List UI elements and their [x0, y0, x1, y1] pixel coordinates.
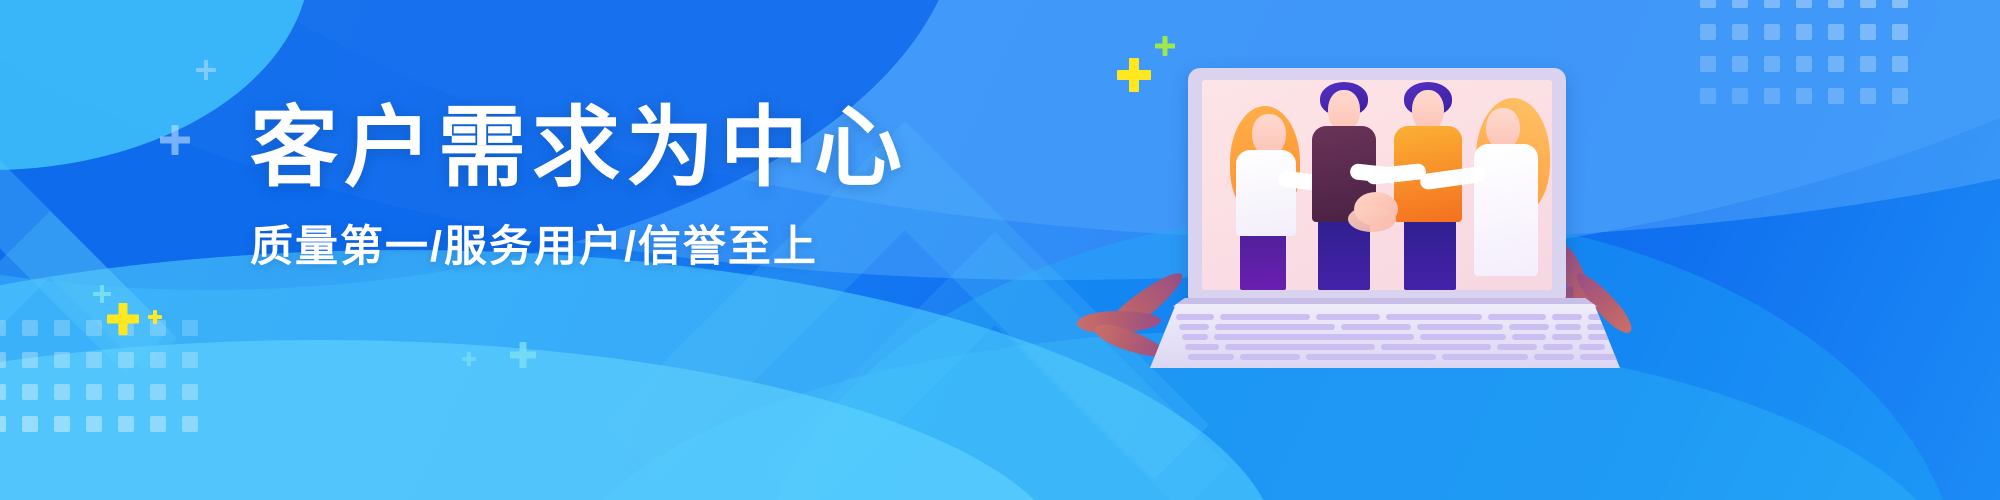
grid-dot [1860, 88, 1876, 104]
grid-dot [1860, 56, 1876, 72]
grid-dot [54, 352, 70, 368]
keyboard-key [1534, 354, 1574, 360]
grid-dot [1700, 24, 1716, 40]
plus-white-small-upper-left-icon [196, 60, 216, 80]
laptop-screen [1202, 80, 1552, 290]
grid-dot [1732, 88, 1748, 104]
person-woman-blonde-right [1460, 94, 1552, 290]
keyboard-key [1188, 354, 1234, 360]
plus-yellow-small-bottom-left-icon [148, 310, 162, 324]
keyboard-key [1225, 344, 1375, 350]
page-title: 客户需求为中心 [250, 104, 890, 192]
keyboard-key [1215, 324, 1335, 330]
grid-dot [1828, 0, 1844, 8]
keyboard-key [1543, 344, 1573, 350]
plus-cyan-bottom-center-icon [510, 342, 536, 368]
keyboard-key [1214, 334, 1414, 340]
laptop-keyboard [1150, 304, 1620, 368]
grid-dot [54, 320, 70, 336]
grid-dot [182, 320, 198, 336]
grid-dot [0, 352, 6, 368]
grid-dot [1892, 24, 1908, 40]
keyboard-key [1185, 344, 1219, 350]
grid-dot [182, 384, 198, 400]
promo-banner: 客户需求为中心 质量第一/服务用户/信誉至上 [0, 0, 2000, 500]
keyboard-key [1488, 314, 1546, 320]
keyboard-key [1240, 354, 1300, 360]
grid-dot [1764, 56, 1780, 72]
page-subtitle: 质量第一/服务用户/信誉至上 [250, 226, 890, 269]
grid-dot [1732, 56, 1748, 72]
grid-dot [150, 416, 166, 432]
grid-dot [0, 384, 6, 400]
grid-dot [1764, 88, 1780, 104]
keyboard-key [1442, 354, 1528, 360]
grid-dot [1796, 24, 1812, 40]
keyboard-key [1552, 314, 1582, 320]
grid-dot [1700, 56, 1716, 72]
plus-yellow-large-bottom-left-icon [107, 303, 139, 335]
grid-dot [118, 352, 134, 368]
grid-dot [118, 416, 134, 432]
grid-dot [0, 416, 6, 432]
keyboard-key [1497, 344, 1537, 350]
plus-cyan-bottom-left-icon [93, 285, 111, 303]
person-man-dark-shirt [1298, 82, 1392, 290]
grid-dot [1860, 0, 1876, 8]
keyboard-key [1588, 334, 1614, 340]
plus-cyan-small-center-icon [462, 352, 476, 366]
laptop-lid [1188, 68, 1566, 300]
grid-dot [86, 416, 102, 432]
grid-dot [1828, 88, 1844, 104]
grid-dot [150, 384, 166, 400]
dot-grid-bottom-left [0, 320, 290, 500]
grid-dot [1892, 0, 1908, 8]
grid-dot [1892, 56, 1908, 72]
grid-dot [22, 320, 38, 336]
keyboard-key [1341, 324, 1411, 330]
grid-dot [182, 352, 198, 368]
grid-dot [1732, 0, 1748, 8]
grid-dot [22, 352, 38, 368]
keyboard-key [1381, 344, 1491, 350]
torso-jacket [1236, 150, 1296, 236]
plus-green-small-near-laptop-icon [1155, 36, 1175, 56]
grid-dot [22, 384, 38, 400]
grid-dot [1892, 88, 1908, 104]
grid-dot [118, 384, 134, 400]
dot-grid-top-right [1700, 0, 2000, 172]
keyboard-key [1176, 314, 1214, 320]
keyboard-key [1220, 314, 1310, 320]
grid-dot [150, 352, 166, 368]
grid-dot [54, 416, 70, 432]
keyboard-key [1386, 314, 1482, 320]
grid-dot [1796, 0, 1812, 8]
grid-dot [1700, 88, 1716, 104]
keyboard-key [1420, 334, 1506, 340]
grid-dot [86, 320, 102, 336]
grid-dot [1828, 56, 1844, 72]
torso-dress [1474, 144, 1538, 276]
grid-dot [22, 416, 38, 432]
grid-dot [1764, 24, 1780, 40]
keyboard-key [1512, 334, 1546, 340]
headline-block: 客户需求为中心 质量第一/服务用户/信誉至上 [250, 104, 890, 269]
laptop-teamwork-illustration [1150, 68, 1620, 368]
keyboard-key [1316, 314, 1380, 320]
joined-hands [1348, 206, 1396, 232]
grid-dot [86, 384, 102, 400]
grid-dot [1764, 0, 1780, 8]
grid-dot [1732, 24, 1748, 40]
grid-dot [1828, 24, 1844, 40]
grid-dot [1860, 24, 1876, 40]
keyboard-key [1552, 334, 1582, 340]
grid-dot [1700, 0, 1716, 8]
keyboard-key [1579, 344, 1605, 350]
keyboard-key [1417, 324, 1503, 330]
grid-dot [182, 416, 198, 432]
plus-yellow-large-near-laptop-icon [1117, 58, 1151, 92]
keyboard-key [1509, 324, 1549, 330]
grid-dot [54, 384, 70, 400]
grid-dot [1796, 56, 1812, 72]
grid-dot [0, 320, 6, 336]
keyboard-key [1306, 354, 1436, 360]
plus-white-medium-left-icon [160, 125, 190, 155]
keyboard-key [1179, 324, 1209, 330]
grid-dot [1796, 88, 1812, 104]
keyboard-key [1182, 334, 1208, 340]
grid-dot [86, 352, 102, 368]
keyboard-key [1555, 324, 1581, 330]
keyboard-key [1580, 354, 1624, 360]
legs [1404, 216, 1456, 290]
